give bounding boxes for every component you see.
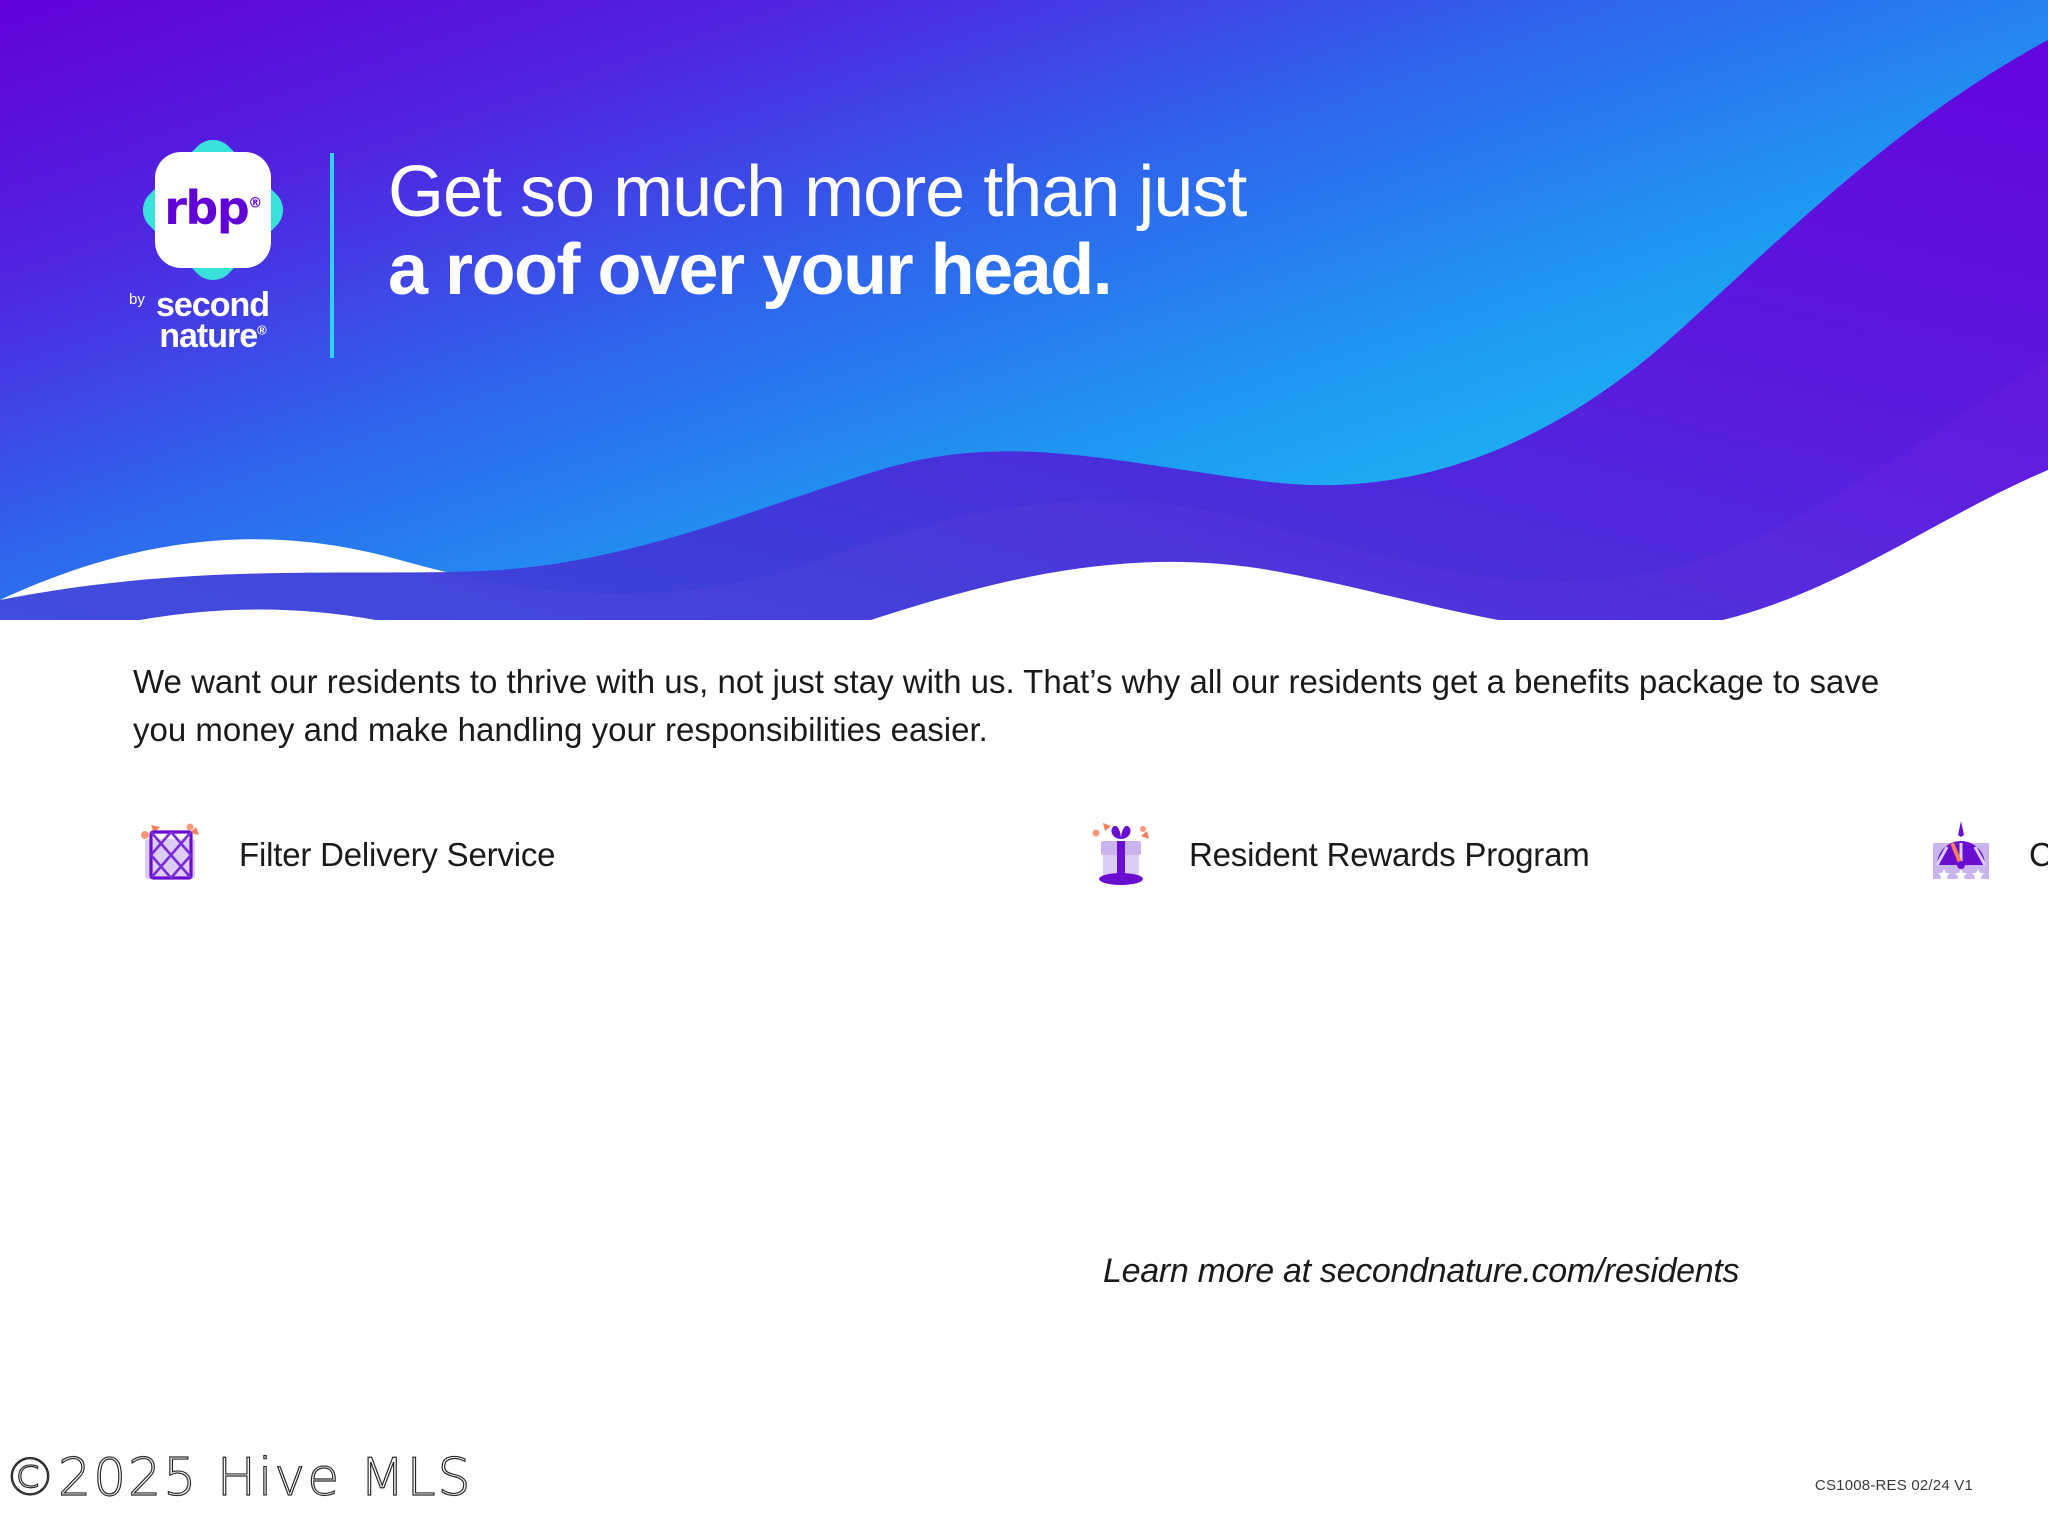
rbp-logo-mark: rbp® <box>143 140 283 280</box>
credit-gauge-icon <box>1923 817 1999 893</box>
headline-line-2: a roof over your head. <box>388 230 1246 311</box>
logo-headline-divider <box>330 153 334 358</box>
logo-registered-mark: ® <box>248 196 261 212</box>
filter-icon <box>133 817 209 893</box>
benefit-item-filter-delivery-service: Filter Delivery Service <box>133 800 1083 910</box>
learn-more-text: Learn more at secondnature.com/residents <box>1103 1252 1739 1291</box>
logo-square-shape: rbp® <box>155 152 271 268</box>
benefit-label: Credit Building <box>2029 836 2048 874</box>
headline-line-1: Get so much more than just <box>388 155 1246 230</box>
benefit-label: Resident Rewards Program <box>1189 836 1590 874</box>
logo-by-text: by <box>129 292 145 307</box>
benefit-item-resident-rewards-program: Resident Rewards Program <box>1083 800 1923 910</box>
benefit-label: Filter Delivery Service <box>239 836 555 874</box>
intro-paragraph: We want our residents to thrive with us,… <box>133 658 1893 754</box>
document-code: CS1008-RES 02/24 V1 <box>1815 1477 1973 1494</box>
logo-brand-name: second nature® <box>156 290 269 353</box>
benefits-list: Filter Delivery Service Resident Rewards… <box>133 800 1923 910</box>
gift-icon <box>1083 817 1159 893</box>
logo-rbp-text: rbp® <box>164 185 261 231</box>
logo-brand-registered-mark: ® <box>257 323 266 338</box>
logo-brand-name-line2: nature® <box>156 321 269 352</box>
mls-watermark: ©2025 Hive MLS <box>4 1452 473 1504</box>
hero-headline: Get so much more than just a roof over y… <box>388 155 1246 311</box>
benefit-item-credit-building: Credit Building <box>1923 800 2048 910</box>
rbp-logo-lockup: rbp® by second nature® <box>125 140 300 365</box>
